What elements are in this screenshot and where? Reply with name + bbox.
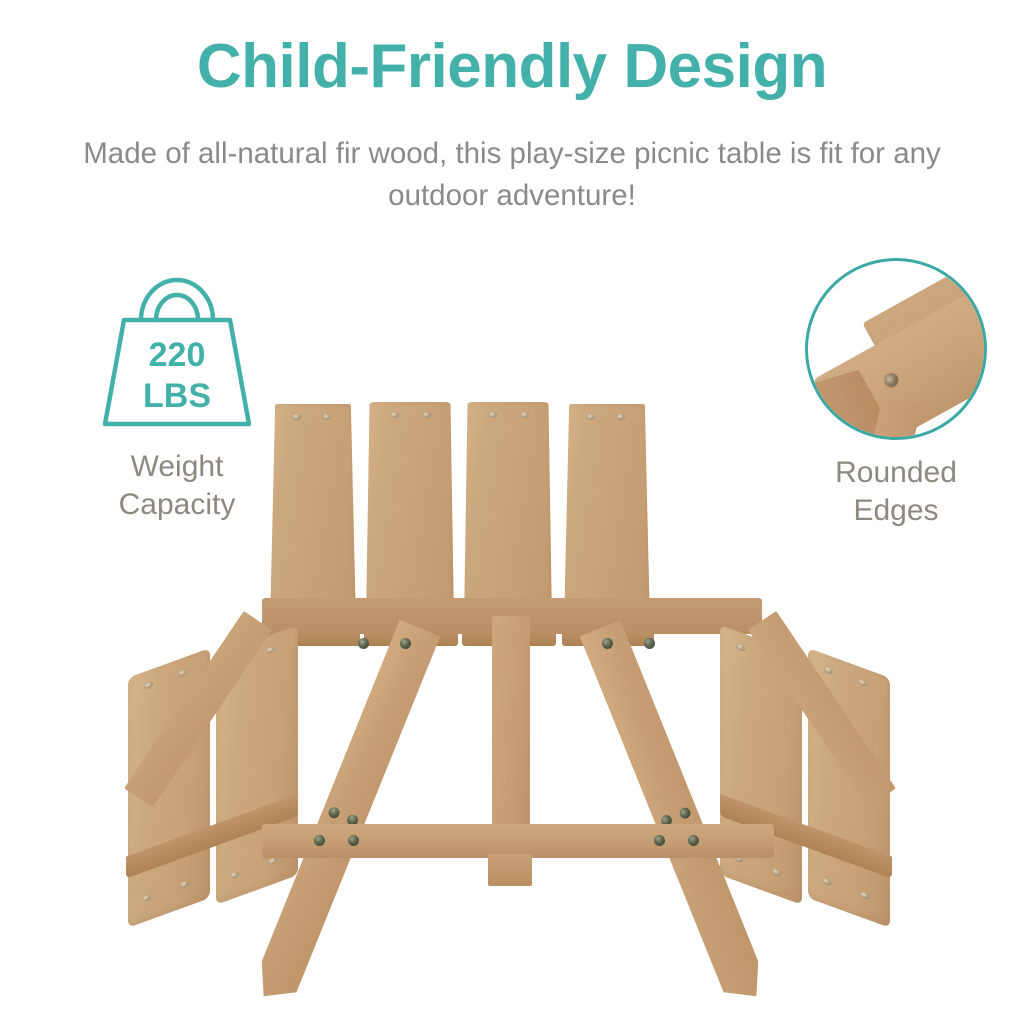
cross-brace-block [488,854,532,886]
weight-badge-value: 220 [149,336,206,374]
page-title: Child-Friendly Design [0,34,1024,99]
tabletop-screw [358,638,369,649]
tabletop-screw [602,638,613,649]
inset-screw [986,288,987,306]
tabletop-plank [564,404,650,626]
product-image-picnic-table [120,380,920,1024]
tabletop-plank [366,402,454,624]
page-subtitle: Made of all-natural fir wood, this play-… [62,133,962,217]
tabletop-plank [464,402,552,624]
tabletop-screw [644,638,655,649]
center-support-post [492,616,530,846]
tabletop-plank [270,404,356,626]
tabletop-screw [400,638,411,649]
cross-brace [262,824,774,858]
